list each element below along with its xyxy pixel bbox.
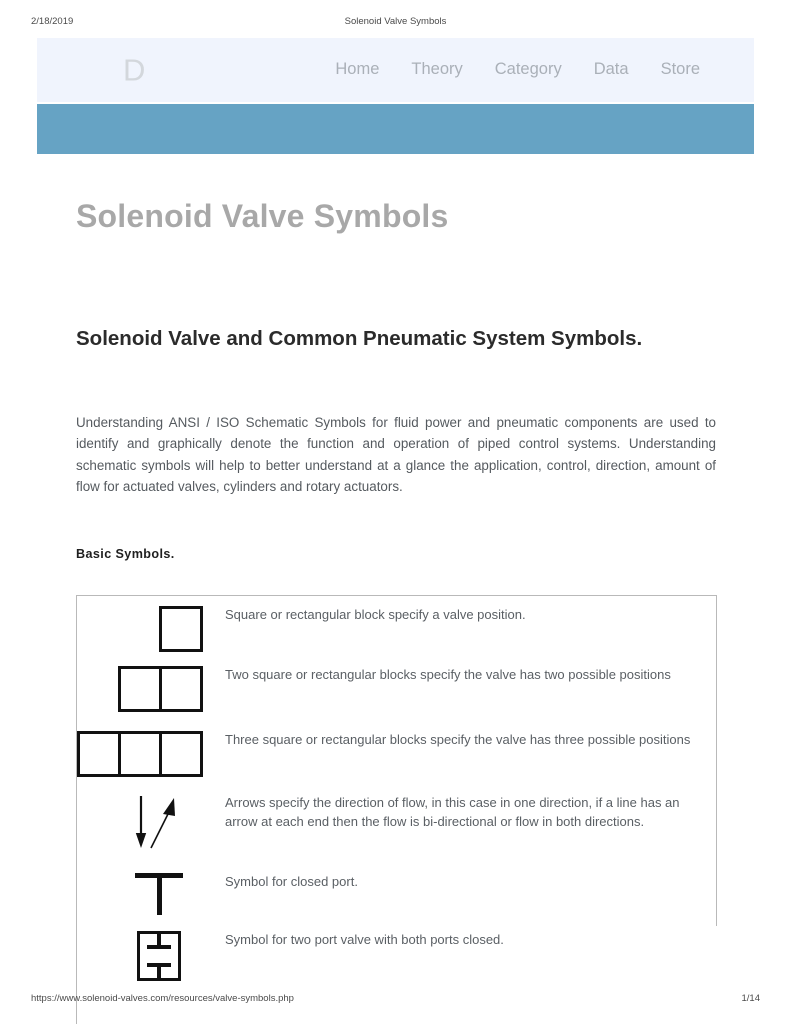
two-blocks-icon [118,666,203,712]
print-doc-title: Solenoid Valve Symbols [0,16,791,27]
print-header: 2/18/2019 Solenoid Valve Symbols [0,16,791,30]
section-heading: Solenoid Valve and Common Pneumatic Syst… [76,325,708,353]
single-block-icon [159,606,203,652]
table-row: Symbol for closed port. [77,873,717,915]
intro-paragraph: Understanding ANSI / ISO Schematic Symbo… [76,412,716,497]
symbol-cell [77,731,225,777]
symbol-cell [77,606,225,652]
three-blocks-icon [77,731,203,777]
symbol-description: Arrows specify the direction of flow, in… [225,794,717,831]
closed-port-icon [135,873,183,915]
symbol-cell [77,666,225,712]
print-source-url: https://www.solenoid-valves.com/resource… [31,993,294,1004]
basic-symbols-table: Square or rectangular block specify a va… [76,595,717,1024]
two-port-valve-closed-icon [137,931,181,981]
hero-banner-bar [37,104,754,154]
table-row: Symbol for two port valve with both port… [77,931,717,981]
symbol-description: Square or rectangular block specify a va… [225,606,717,625]
page-title: Solenoid Valve Symbols [76,196,716,236]
symbol-description: Three square or rectangular blocks speci… [225,731,717,750]
symbol-cell [77,794,225,852]
symbol-cell [77,931,225,981]
table-row: Arrows specify the direction of flow, in… [77,794,717,852]
nav-item-category[interactable]: Category [479,60,578,80]
symbol-description: Two square or rectangular blocks specify… [225,666,717,685]
flow-arrows-icon [131,794,187,852]
nav-item-data[interactable]: Data [578,60,645,80]
table-row: Three square or rectangular blocks speci… [77,731,717,777]
brand-logo[interactable]: D [123,55,145,86]
print-footer: https://www.solenoid-valves.com/resource… [0,993,791,1007]
table-row: Square or rectangular block specify a va… [77,606,717,652]
basic-symbols-subheading: Basic Symbols. [76,547,175,561]
print-page-number: 1/14 [742,993,761,1004]
symbol-cell [77,873,225,915]
site-header: D Home Theory Category Data Store [37,38,754,102]
page-content: Solenoid Valve Symbols Solenoid Valve an… [76,196,716,236]
nav-item-store[interactable]: Store [645,60,716,80]
symbol-description: Symbol for two port valve with both port… [225,931,717,950]
symbol-description: Symbol for closed port. [225,873,717,892]
table-row: Two square or rectangular blocks specify… [77,666,717,712]
main-nav: Home Theory Category Data Store [319,60,716,80]
nav-item-home[interactable]: Home [319,60,395,80]
nav-item-theory[interactable]: Theory [395,60,478,80]
